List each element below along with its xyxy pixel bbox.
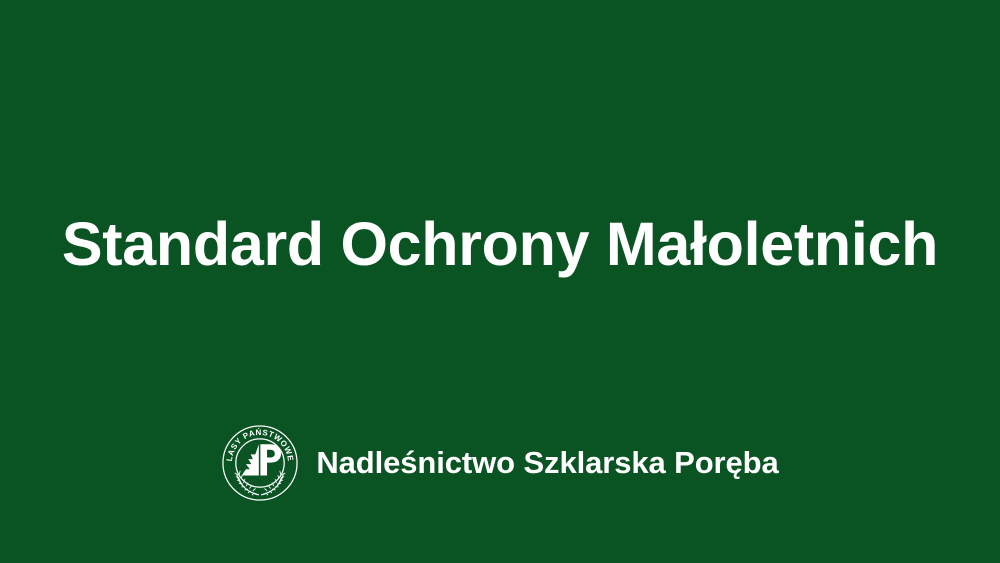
page-title: Standard Ochrony Małoletnich bbox=[62, 212, 938, 278]
svg-text:LASY PAŃSTWOWE: LASY PAŃSTWOWE bbox=[225, 428, 295, 462]
title-block: Standard Ochrony Małoletnich bbox=[0, 212, 1000, 278]
organization-name: Nadleśnictwo Szklarska Poręba bbox=[316, 446, 778, 480]
title-slide: Standard Ochrony Małoletnich LASY PAŃSTW… bbox=[0, 0, 1000, 563]
lasy-panstwowe-logo-icon: LASY PAŃSTWOWE bbox=[221, 424, 299, 502]
brand-lockup: LASY PAŃSTWOWE bbox=[0, 424, 1000, 502]
